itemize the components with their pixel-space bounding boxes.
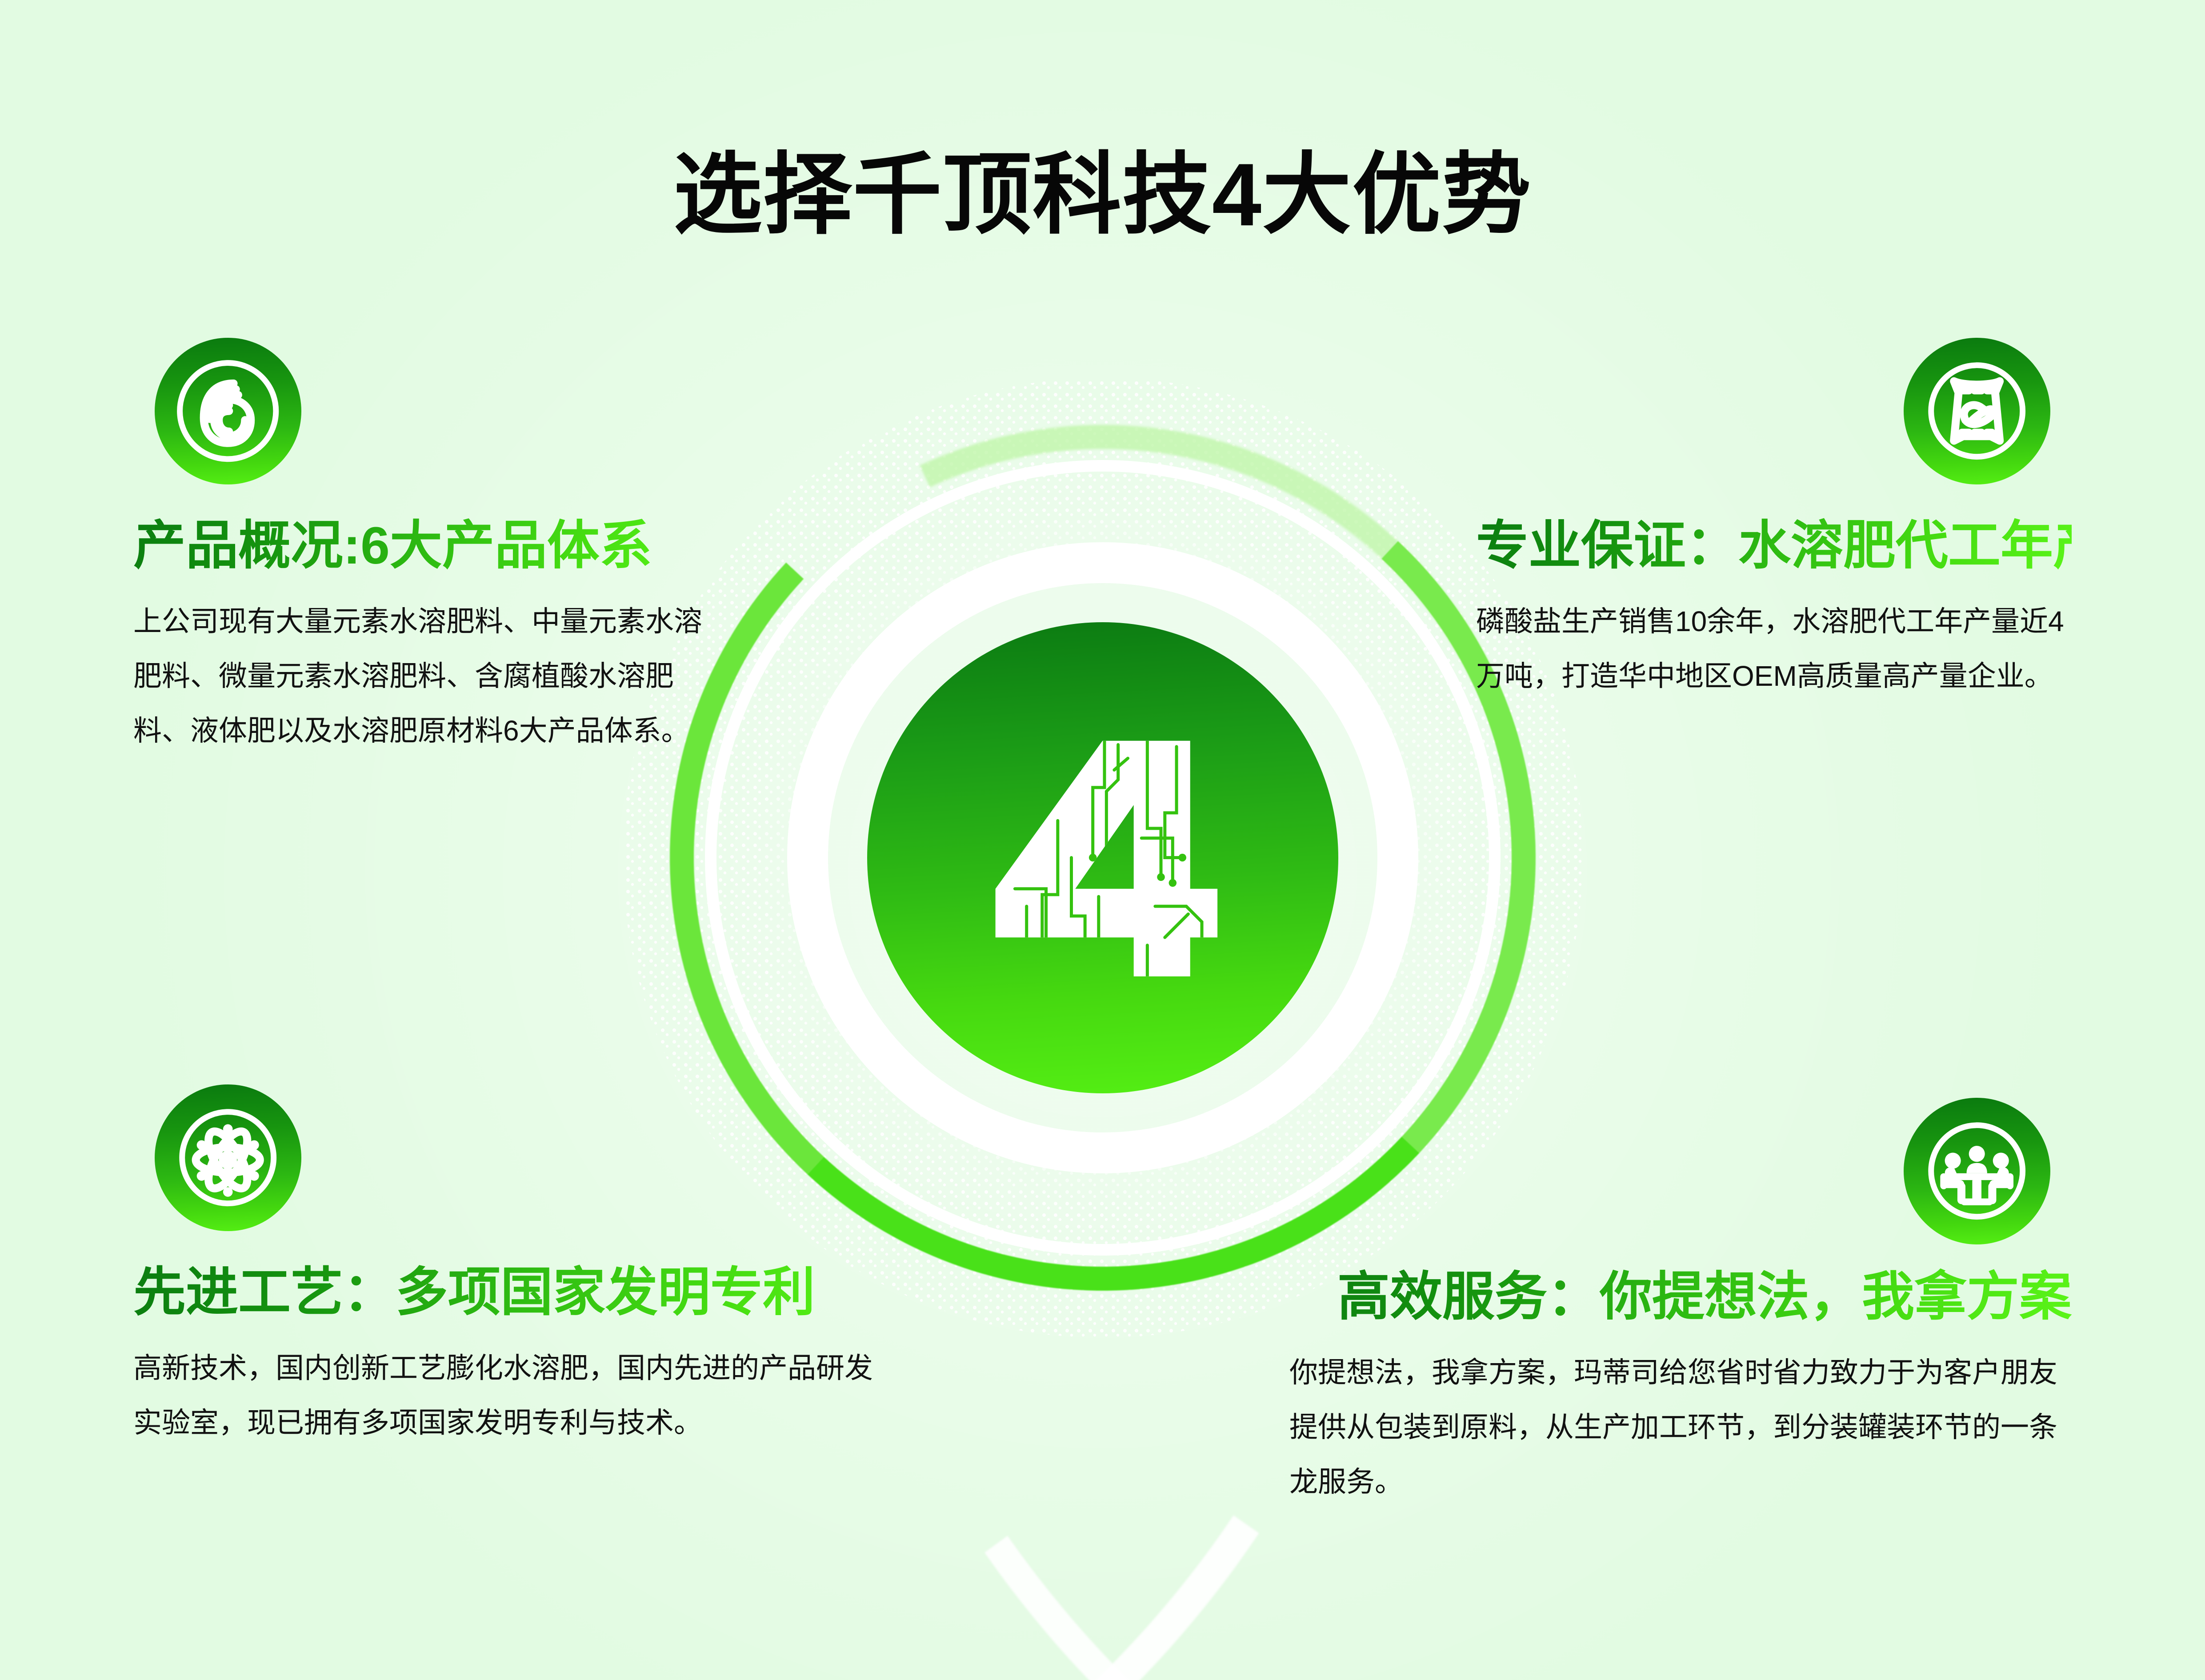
feature-body: 磷酸盐生产销售10余年，水溶肥代工年产量近4万吨，打造华中地区OEM高质量高产量… [1476, 594, 2072, 704]
feature-heading: 先进工艺：多项国家发明专利 [133, 1262, 889, 1323]
feature-body: 高新技术，国内创新工艺膨化水溶肥，国内先进的产品研发实验室，现已拥有多项国家发明… [133, 1341, 889, 1450]
fertilizer-bag-icon [1904, 338, 2050, 484]
number-six-circle-icon [155, 338, 301, 484]
feature-heading: 产品概况:6大产品体系 [133, 516, 711, 576]
page-title: 选择千顶科技4大优势 [0, 148, 2205, 242]
feature-heading: 专业保证：水溶肥代工年产量近4万吨 [1476, 516, 2072, 576]
feature-card-top-right: 专业保证：水溶肥代工年产量近4万吨 磷酸盐生产销售10余年，水溶肥代工年产量近4… [1476, 338, 2072, 704]
feature-body: 上公司现有大量元素水溶肥料、中量元素水溶肥料、微量元素水溶肥料、含腐植酸水溶肥料… [133, 594, 711, 758]
feature-body: 你提想法，我拿方案，玛蒂司给您省时省力致力于为客户朋友提供从包装到原料，从生产加… [1289, 1345, 2072, 1509]
atom-icon [155, 1084, 301, 1231]
feature-card-top-left: 产品概况:6大产品体系 上公司现有大量元素水溶肥料、中量元素水溶肥料、微量元素水… [133, 338, 711, 758]
center-number-circle [867, 622, 1338, 1093]
feature-card-bottom-right: 高效服务：你提想法，我拿方案 你提想法，我拿方案，玛蒂司给您省时省力致力于为客户… [1289, 1098, 2072, 1509]
meeting-people-icon [1904, 1098, 2050, 1244]
infographic-canvas: 选择千顶科技4大优势 产品概况:6大产品体系 上公司现有大量元素水溶肥料、中量元… [0, 0, 2205, 1680]
feature-heading: 高效服务：你提想法，我拿方案 [1289, 1267, 2072, 1328]
feature-card-bottom-left: 先进工艺：多项国家发明专利 高新技术，国内创新工艺膨化水溶肥，国内先进的产品研发… [133, 1084, 889, 1450]
circuit-number-four-icon [956, 712, 1249, 1004]
